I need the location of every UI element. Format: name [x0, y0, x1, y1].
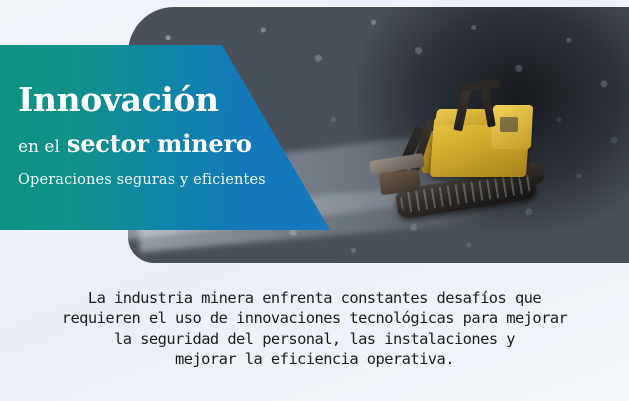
- body-line-2: requieren el uso de innovaciones tecnoló…: [18, 308, 611, 328]
- excavator-icon: [374, 83, 564, 223]
- body-line-3: la seguridad del personal, las instalaci…: [18, 329, 611, 349]
- body-paragraph: La industria minera enfrenta constantes …: [0, 288, 629, 369]
- excavator-bucket: [379, 169, 421, 195]
- excavator-cab-window: [500, 117, 518, 132]
- body-line-1: La industria minera enfrenta constantes …: [18, 288, 611, 308]
- poster-canvas: Innovación en el sector minero Operacion…: [0, 0, 629, 401]
- body-line-4: mejorar la eficiencia operativa.: [18, 349, 611, 369]
